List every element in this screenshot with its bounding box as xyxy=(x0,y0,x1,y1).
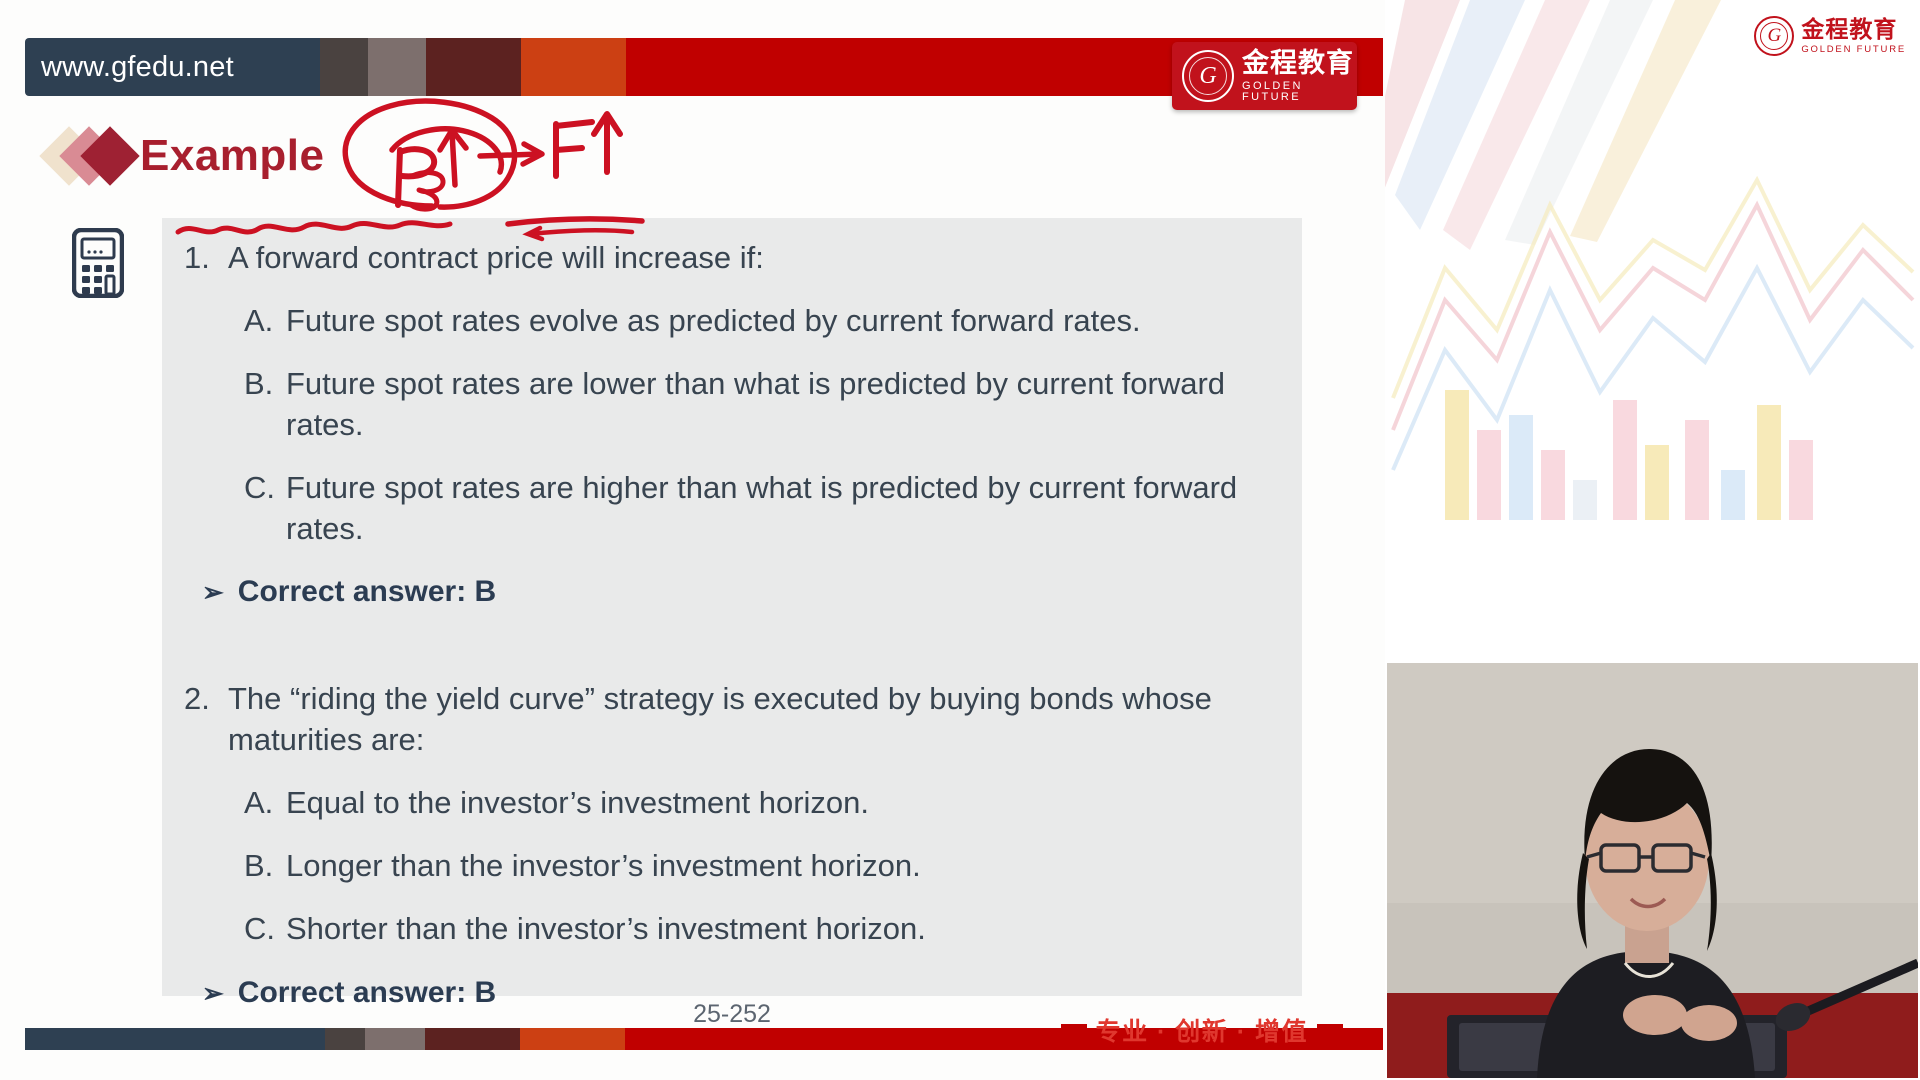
page-title: Example xyxy=(140,131,324,181)
question-stem: A forward contract price will increase i… xyxy=(228,238,1276,279)
tagline-dash-right xyxy=(1317,1024,1343,1037)
option-text: Future spot rates are higher than what i… xyxy=(286,468,1276,550)
correct-answer-1: ➢ Correct answer: B xyxy=(184,575,1276,609)
question-1: 1. A forward contract price will increas… xyxy=(162,218,1302,609)
logo-english-name: GOLDEN FUTURE xyxy=(1801,44,1906,55)
band-segment-1 xyxy=(320,38,368,96)
graphic-svg xyxy=(1385,0,1920,660)
webcam-frame xyxy=(1387,663,1918,1078)
logo-english-name: GOLDEN FUTURE xyxy=(1242,81,1357,103)
option-letter: B. xyxy=(244,364,286,446)
question-number: 1. xyxy=(184,238,228,279)
band-segment-2 xyxy=(368,38,426,96)
option-text: Longer than the investor’s investment ho… xyxy=(286,846,1276,887)
band-segment-4 xyxy=(521,38,626,96)
option-c[interactable]: C. Future spot rates are higher than wha… xyxy=(184,468,1276,550)
option-a[interactable]: A. Equal to the investor’s investment ho… xyxy=(184,783,1276,824)
slide-title-row: Example xyxy=(48,124,324,188)
calculator-icon xyxy=(72,228,124,298)
option-a[interactable]: A. Future spot rates evolve as predicted… xyxy=(184,301,1276,342)
option-text: Shorter than the investor’s investment h… xyxy=(286,909,1276,950)
logo-chinese-name: 金程教育 xyxy=(1801,18,1906,41)
arrow-bullet-icon: ➢ xyxy=(202,579,224,605)
option-text: Equal to the investor’s investment horiz… xyxy=(286,783,1276,824)
option-letter: C. xyxy=(244,909,286,950)
question-stem: The “riding the yield curve” strategy is… xyxy=(228,679,1276,761)
diamond-icon xyxy=(48,124,136,188)
seal-badge-icon: G xyxy=(1754,16,1794,56)
url-text: www.gfedu.net xyxy=(41,51,234,84)
tagline-text: 专业 · 创新 · 增值 xyxy=(1096,1012,1308,1048)
website-url-label: www.gfedu.net xyxy=(25,38,320,96)
option-letter: A. xyxy=(244,301,286,342)
tagline-dash-left xyxy=(1061,1024,1087,1037)
presentation-slide: www.gfedu.net G 金程教育 GOLDEN FUTURE Examp… xyxy=(0,0,1385,1080)
answer-label: Correct answer: B xyxy=(238,575,496,609)
screen: www.gfedu.net G 金程教育 GOLDEN FUTURE Examp… xyxy=(0,0,1920,1080)
option-b[interactable]: B. Longer than the investor’s investment… xyxy=(184,846,1276,887)
abstract-chart-graphic: G 金程教育 GOLDEN FUTURE xyxy=(1385,0,1920,660)
logo-chinese-name: 金程教育 xyxy=(1242,50,1357,77)
seal-letter: G xyxy=(1199,64,1216,88)
question-panel: 1. A forward contract price will increas… xyxy=(162,218,1302,996)
footer-tagline: 专业 · 创新 · 增值 xyxy=(1061,1012,1343,1048)
right-panel: G 金程教育 GOLDEN FUTURE xyxy=(1385,0,1920,1080)
brand-logo-right: G 金程教育 GOLDEN FUTURE xyxy=(1754,16,1906,56)
seal-badge-icon: G xyxy=(1182,50,1234,102)
option-text: Future spot rates evolve as predicted by… xyxy=(286,301,1276,342)
instructor-webcam-feed xyxy=(1387,663,1918,1078)
option-letter: C. xyxy=(244,468,286,550)
option-b[interactable]: B. Future spot rates are lower than what… xyxy=(184,364,1276,446)
option-letter: A. xyxy=(244,783,286,824)
question-number: 2. xyxy=(184,679,228,761)
option-text: Future spot rates are lower than what is… xyxy=(286,364,1276,446)
option-c[interactable]: C. Shorter than the investor’s investmen… xyxy=(184,909,1276,950)
seal-letter: G xyxy=(1767,25,1781,47)
option-letter: B. xyxy=(244,846,286,887)
brand-logo: G 金程教育 GOLDEN FUTURE xyxy=(1172,42,1357,110)
band-segment-3 xyxy=(426,38,521,96)
question-2: 2. The “riding the yield curve” strategy… xyxy=(162,659,1302,1010)
